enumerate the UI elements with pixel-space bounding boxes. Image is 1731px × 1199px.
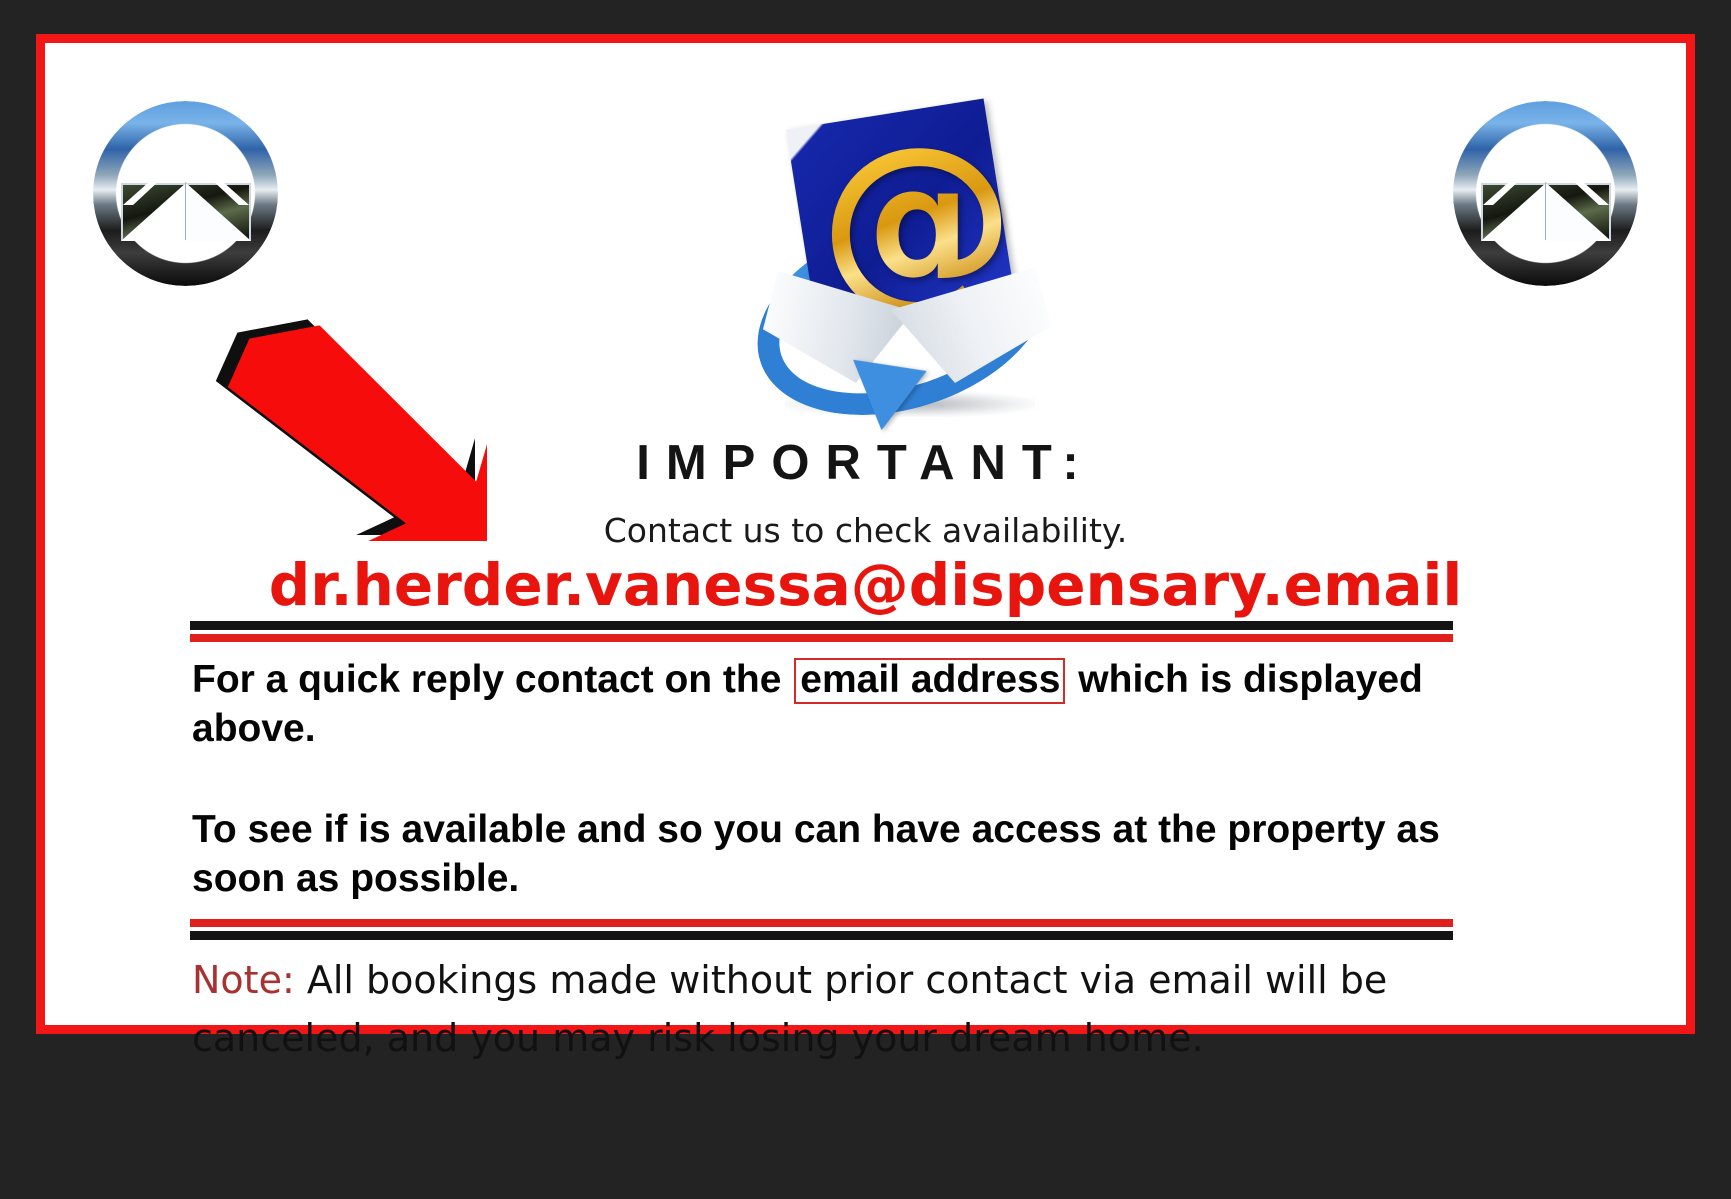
boxed-email-address-phrase: email address bbox=[794, 658, 1065, 704]
envelope-flap-left bbox=[121, 183, 186, 241]
envelope-flap-left bbox=[1481, 183, 1546, 241]
paragraph-1-before: For a quick reply contact on the bbox=[192, 658, 781, 701]
divider-bar-black bbox=[190, 931, 1453, 940]
envelope-glyph bbox=[121, 149, 251, 241]
envelope-ring-icon-left bbox=[93, 101, 278, 286]
arrow-body bbox=[217, 321, 487, 541]
envelope-flap-right bbox=[1546, 183, 1611, 241]
poster-background: @ IMPORTANT: Contact us to check availab… bbox=[0, 0, 1731, 1199]
poster-card: @ IMPORTANT: Contact us to check availab… bbox=[36, 34, 1695, 1034]
divider-bar-red bbox=[190, 634, 1453, 642]
divider-bottom bbox=[190, 919, 1453, 940]
envelope-ring-icon-right bbox=[1453, 101, 1638, 286]
envelope-flap-right bbox=[186, 183, 251, 241]
page-title: IMPORTANT: bbox=[45, 435, 1686, 491]
subtitle: Contact us to check availability. bbox=[45, 511, 1686, 550]
paragraph-quick-reply: For a quick reply contact on the email a… bbox=[192, 655, 1462, 753]
red-down-right-arrow-icon bbox=[205, 315, 475, 535]
note-block: Note: All bookings made without prior co… bbox=[192, 951, 1472, 1067]
at-symbol-email-envelope-icon: @ bbox=[745, 103, 1075, 423]
paragraph-availability: To see if is available and so you can ha… bbox=[192, 805, 1462, 903]
email-address[interactable]: dr.herder.vanessa@dispensary.email bbox=[45, 551, 1686, 619]
divider-bar-black bbox=[190, 621, 1453, 630]
note-label: Note: bbox=[192, 958, 295, 1002]
divider-bar-red bbox=[190, 919, 1453, 927]
divider-top bbox=[190, 621, 1453, 642]
note-text: All bookings made without prior contact … bbox=[192, 958, 1387, 1060]
envelope-glyph bbox=[1481, 149, 1611, 241]
